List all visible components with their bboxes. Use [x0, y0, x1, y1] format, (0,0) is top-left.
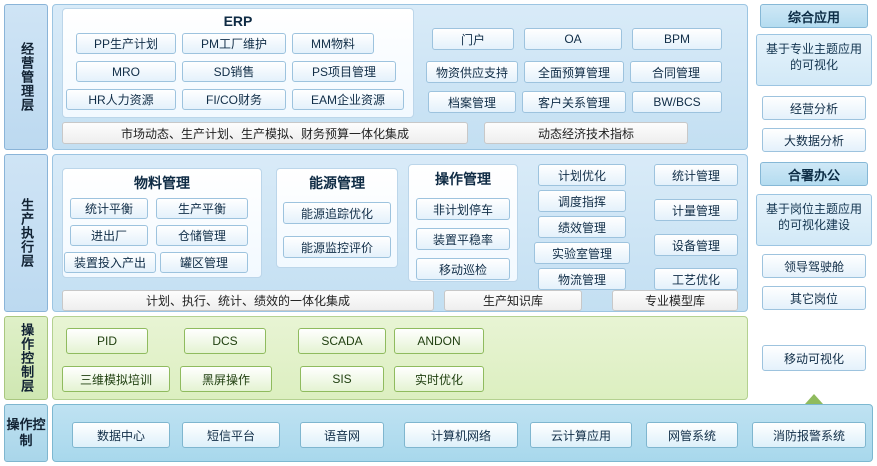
infra-item-chip[interactable]: 数据中心 [72, 422, 170, 448]
material-management-title: 物料管理 [63, 173, 261, 193]
right-item-chip[interactable]: 大数据分析 [762, 128, 866, 152]
layer-label-control: 操作控制层 [4, 316, 48, 400]
business-app-chip[interactable]: 全面预算管理 [524, 61, 624, 83]
right-item-chip[interactable]: 领导驾驶舱 [762, 254, 866, 278]
business-app-chip[interactable]: OA [524, 28, 622, 50]
operation-item-chip[interactable]: 移动巡检 [416, 258, 510, 280]
material-item-chip[interactable]: 装置投入产出 [64, 252, 156, 273]
business-app-chip[interactable]: BPM [632, 28, 722, 50]
layer-label-business: 经营管理层 [4, 4, 48, 150]
business-app-chip[interactable]: 档案管理 [428, 91, 516, 113]
model-library-bar[interactable]: 专业模型库 [612, 290, 738, 311]
material-item-chip[interactable]: 生产平衡 [156, 198, 248, 219]
comprehensive-app-panel: 基于专业主题应用的可视化 [756, 34, 872, 86]
business-indicator-bar[interactable]: 动态经济技术指标 [484, 122, 688, 144]
control-item-chip[interactable]: 黑屏操作 [180, 366, 272, 392]
operation-item-chip[interactable]: 非计划停车 [416, 198, 510, 220]
arrow-up-icon [805, 394, 823, 404]
execution-col5-chip[interactable]: 设备管理 [654, 234, 738, 256]
material-item-chip[interactable]: 统计平衡 [70, 198, 148, 219]
execution-col4-chip[interactable]: 物流管理 [538, 268, 626, 290]
infra-item-chip[interactable]: 语音网 [300, 422, 384, 448]
execution-col5-chip[interactable]: 工艺优化 [654, 268, 738, 290]
erp-title: ERP [63, 13, 413, 29]
execution-col4-chip[interactable]: 计划优化 [538, 164, 626, 186]
business-app-chip[interactable]: 合同管理 [630, 61, 722, 83]
material-item-chip[interactable]: 罐区管理 [160, 252, 248, 273]
energy-item-chip[interactable]: 能源监控评价 [283, 236, 391, 258]
business-app-chip[interactable]: 客户关系管理 [522, 91, 626, 113]
control-item-chip[interactable]: PID [66, 328, 148, 354]
control-item-chip[interactable]: SIS [300, 366, 384, 392]
layer-label-execution: 生产执行层 [4, 154, 48, 312]
joint-office-panel: 基于岗位主题应用的可视化建设 [756, 194, 872, 246]
erp-module-chip[interactable]: SD销售 [182, 61, 286, 82]
execution-col4-chip[interactable]: 绩效管理 [538, 216, 626, 238]
infra-item-chip[interactable]: 短信平台 [182, 422, 280, 448]
control-item-chip[interactable]: 三维模拟培训 [62, 366, 170, 392]
energy-item-chip[interactable]: 能源追踪优化 [283, 202, 391, 224]
business-app-chip[interactable]: 物资供应支持 [426, 61, 518, 83]
erp-module-chip[interactable]: PM工厂维护 [182, 33, 286, 54]
joint-office-header[interactable]: 合署办公 [760, 162, 868, 186]
right-item-chip[interactable]: 经营分析 [762, 96, 866, 120]
erp-module-chip[interactable]: PS项目管理 [292, 61, 396, 82]
erp-module-chip[interactable]: HR人力资源 [66, 89, 176, 110]
execution-integration-bar[interactable]: 计划、执行、统计、绩效的一体化集成 [62, 290, 434, 311]
knowledge-base-bar[interactable]: 生产知识库 [444, 290, 582, 311]
erp-module-chip[interactable]: MRO [76, 61, 176, 82]
infra-item-chip[interactable]: 消防报警系统 [752, 422, 866, 448]
business-app-chip[interactable]: 门户 [432, 28, 514, 50]
execution-col5-chip[interactable]: 统计管理 [654, 164, 738, 186]
joint-office-desc: 基于岗位主题应用的可视化建设 [761, 201, 867, 233]
mobile-visualization-chip[interactable]: 移动可视化 [762, 345, 866, 371]
infra-item-chip[interactable]: 云计算应用 [530, 422, 632, 448]
control-item-chip[interactable]: DCS [184, 328, 266, 354]
execution-col4-chip[interactable]: 实验室管理 [534, 242, 630, 264]
control-item-chip[interactable]: 实时优化 [394, 366, 484, 392]
erp-module-chip[interactable]: EAM企业资源 [292, 89, 404, 110]
infra-item-chip[interactable]: 计算机网络 [404, 422, 518, 448]
business-integration-bar[interactable]: 市场动态、生产计划、生产模拟、财务预算一体化集成 [62, 122, 468, 144]
material-item-chip[interactable]: 进出厂 [70, 225, 148, 246]
execution-col5-chip[interactable]: 计量管理 [654, 199, 738, 221]
control-item-chip[interactable]: SCADA [298, 328, 386, 354]
material-item-chip[interactable]: 仓储管理 [156, 225, 248, 246]
control-item-chip[interactable]: ANDON [394, 328, 484, 354]
right-item-chip[interactable]: 其它岗位 [762, 286, 866, 310]
erp-module-chip[interactable]: PP生产计划 [76, 33, 176, 54]
execution-col4-chip[interactable]: 调度指挥 [538, 190, 626, 212]
infra-item-chip[interactable]: 网管系统 [646, 422, 738, 448]
energy-management-title: 能源管理 [277, 173, 397, 193]
diagram-canvas: 经营管理层 生产执行层 操作控制层 操作控制 ERP PP生产计划 PM工厂维护… [0, 0, 877, 466]
comprehensive-app-desc: 基于专业主题应用的可视化 [761, 41, 867, 73]
comprehensive-app-header[interactable]: 综合应用 [760, 4, 868, 28]
erp-module-chip[interactable]: MM物料 [292, 33, 374, 54]
operation-item-chip[interactable]: 装置平稳率 [416, 228, 510, 250]
business-app-chip[interactable]: BW/BCS [632, 91, 722, 113]
layer-label-infra: 操作控制 [4, 404, 48, 462]
erp-module-chip[interactable]: FI/CO财务 [182, 89, 286, 110]
operation-management-title: 操作管理 [409, 169, 517, 189]
